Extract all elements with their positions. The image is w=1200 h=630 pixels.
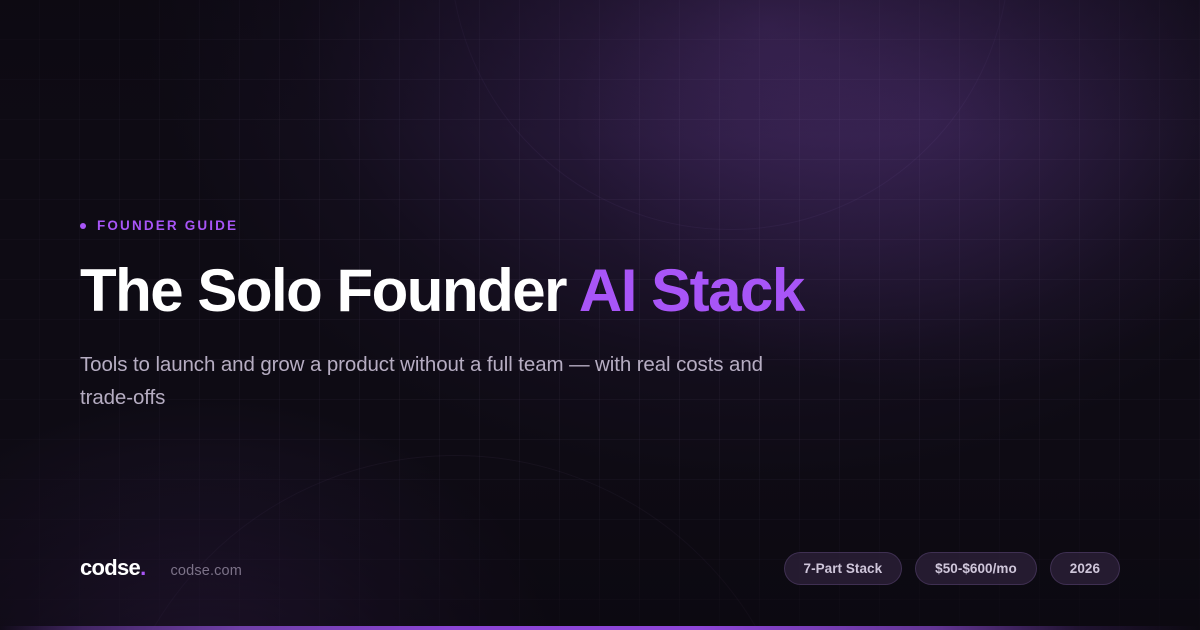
brand-url: codse.com: [171, 564, 242, 579]
bottom-accent-bar: [0, 626, 1200, 630]
footer: codse. codse.com 7-Part Stack $50-$600/m…: [80, 549, 1120, 587]
eyebrow-label: FOUNDER GUIDE: [80, 219, 238, 233]
promo-card: FOUNDER GUIDE The Solo Founder AI Stack …: [0, 0, 1200, 630]
bullet-dot-icon: [80, 223, 86, 229]
page-title-accent: AI Stack: [579, 257, 804, 324]
brand-logo-name: codse: [80, 555, 140, 580]
eyebrow-text: FOUNDER GUIDE: [97, 219, 238, 233]
brand-logo-dot: .: [140, 555, 145, 580]
status-badge: 7-Part Stack: [784, 552, 903, 585]
page-title-primary: The Solo Founder: [80, 257, 579, 324]
status-badge: $50-$600/mo: [915, 552, 1037, 585]
badge-group: 7-Part Stack $50-$600/mo 2026: [784, 552, 1120, 585]
brand-block: codse. codse.com: [80, 557, 242, 579]
page-title: The Solo Founder AI Stack: [80, 259, 804, 323]
status-badge: 2026: [1050, 552, 1120, 585]
brand-logo: codse.: [80, 557, 146, 579]
page-subtitle: Tools to launch and grow a product witho…: [80, 348, 780, 414]
